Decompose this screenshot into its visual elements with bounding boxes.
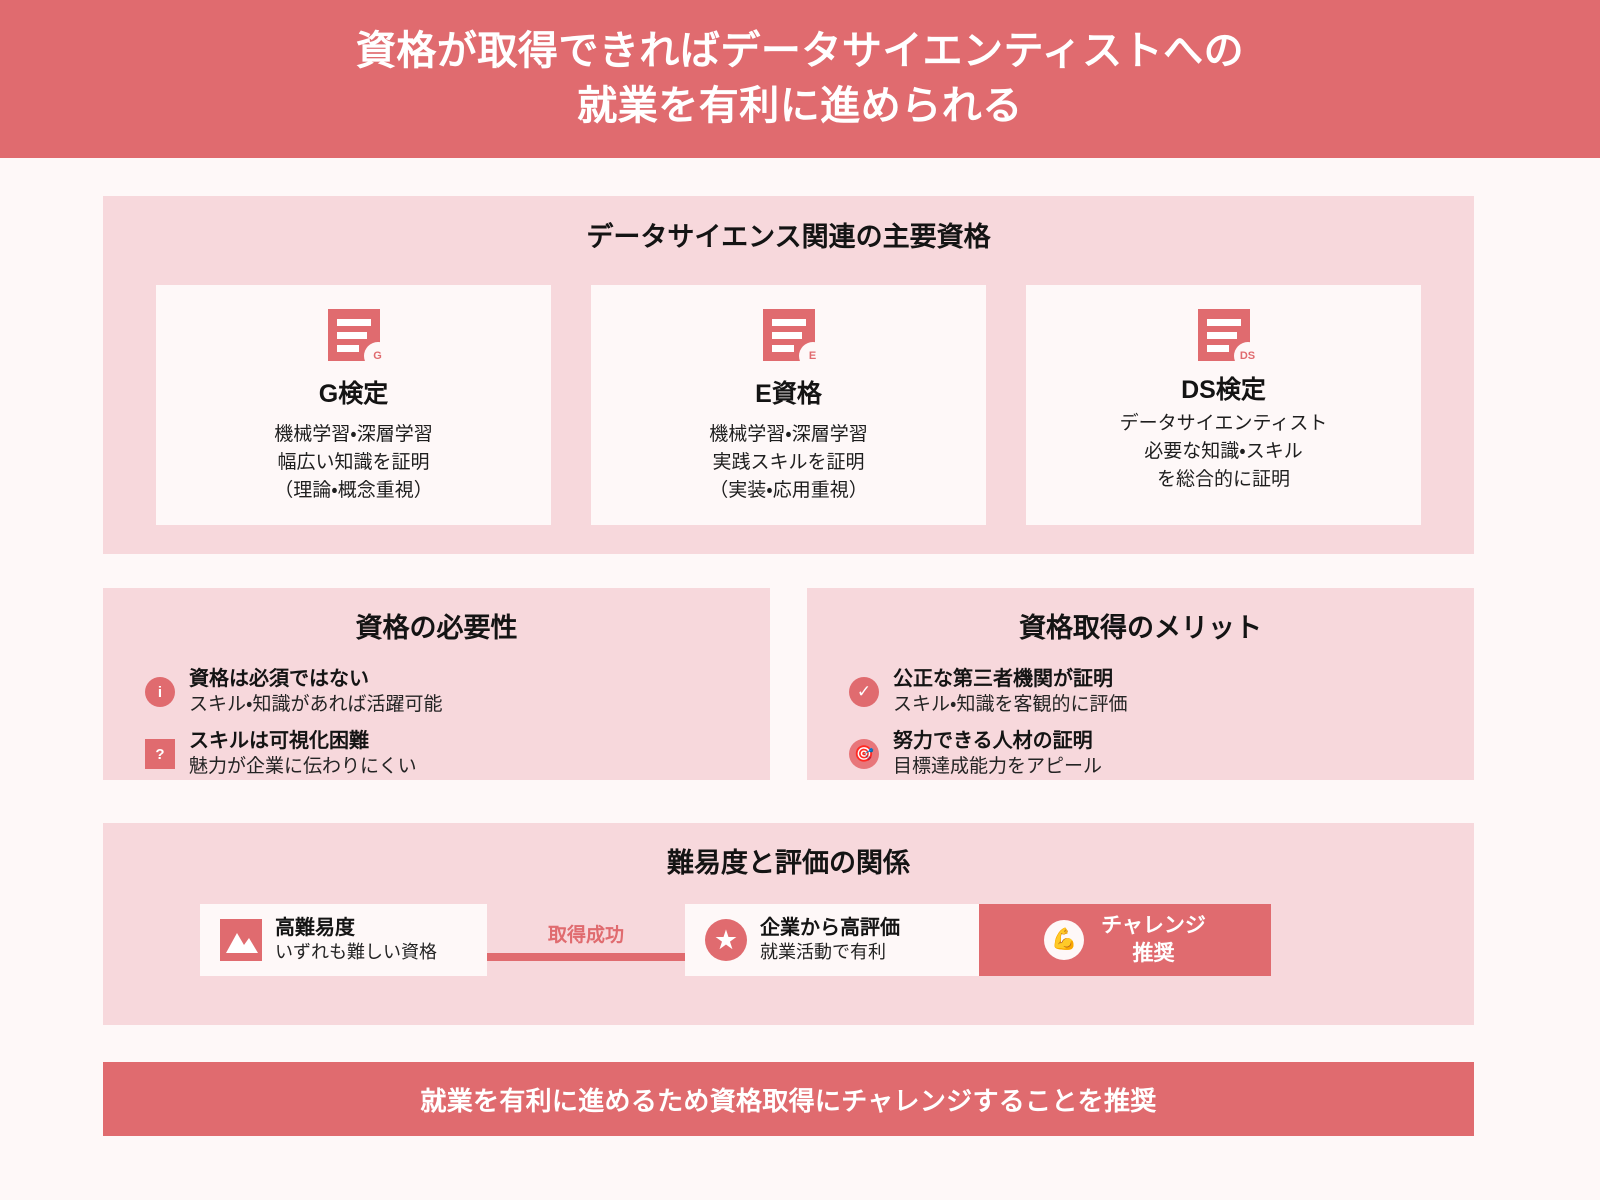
list-item: i 資格は必須ではない スキル・知識があれば活躍可能 — [145, 666, 770, 718]
infographic-page: 資格が取得できればデータサイエンティストへの 就業を有利に進められる データサイ… — [0, 0, 1600, 1200]
difficulty-second-texts: 企業から高評価 就業活動で有利 — [760, 915, 900, 964]
necessity-list: i 資格は必須ではない スキル・知識があれば活躍可能 ? スキルは可視化困難 魅… — [103, 666, 770, 780]
list-item-sub: スキル・知識があれば活躍可能 — [189, 692, 442, 718]
flow-connector-label: 取得成功 — [548, 920, 624, 947]
certifications-panel: データサイエンス関連の主要資格 G G検定 機械学習・深層学習 幅広い知識を証明… — [103, 196, 1474, 554]
list-item-heading: 資格は必須ではない — [189, 666, 442, 692]
list-item-heading: スキルは可視化困難 — [189, 728, 417, 754]
difficulty-first-sub: いずれも難しい資格 — [275, 941, 437, 964]
certification-name: DS検定 — [1181, 370, 1266, 406]
list-item-heading: 努力できる人材の証明 — [893, 728, 1102, 754]
list-item: ✓ 公正な第三者機関が証明 スキル・知識を客観的に評価 — [849, 666, 1474, 718]
difficulty-second-heading: 企業から高評価 — [760, 915, 900, 941]
difficulty-second-box[interactable]: ★ 企業から高評価 就業活動で有利 — [685, 904, 979, 976]
merit-list: ✓ 公正な第三者機関が証明 スキル・知識を客観的に評価 🎯 努力できる人材の証明… — [807, 666, 1474, 780]
merit-section-title: 資格取得のメリット — [807, 606, 1474, 645]
difficulty-second-sub: 就業活動で有利 — [760, 941, 900, 964]
muscle-icon: 💪 — [1044, 920, 1084, 960]
difficulty-first-texts: 高難易度 いずれも難しい資格 — [275, 915, 437, 964]
document-line — [1207, 345, 1229, 352]
document-icon: G — [328, 309, 380, 361]
difficulty-first-box[interactable]: 高難易度 いずれも難しい資格 — [200, 904, 487, 976]
list-item-texts: 公正な第三者機関が証明 スキル・知識を客観的に評価 — [893, 666, 1127, 718]
difficulty-flow-row: 高難易度 いずれも難しい資格 取得成功 ★ 企業から高評価 就業活動で有利 💪 … — [103, 904, 1474, 976]
list-item-sub: 目標達成能力をアピール — [893, 754, 1102, 780]
document-line — [1207, 332, 1237, 339]
list-item-heading: 公正な第三者機関が証明 — [893, 666, 1127, 692]
certification-description: 機械学習・深層学習 実践スキルを証明 （実装・応用重視） — [709, 421, 867, 505]
challenge-cta-text: チャレンジ 推奨 — [1101, 912, 1206, 969]
document-line — [1207, 319, 1241, 326]
list-item: ? スキルは可視化困難 魅力が企業に伝わりにくい — [145, 728, 770, 780]
check-icon: ✓ — [849, 677, 879, 707]
question-icon: ? — [145, 739, 175, 769]
merit-panel: 資格取得のメリット ✓ 公正な第三者機関が証明 スキル・知識を客観的に評価 🎯 … — [807, 588, 1474, 780]
flow-connector-line — [487, 953, 685, 961]
list-item: 🎯 努力できる人材の証明 目標達成能力をアピール — [849, 728, 1474, 780]
certification-description: 機械学習・深層学習 幅広い知識を証明 （理論・概念重視） — [274, 421, 432, 505]
list-item-sub: 魅力が企業に伝わりにくい — [189, 754, 417, 780]
certifications-section-title: データサイエンス関連の主要資格 — [103, 215, 1474, 254]
document-line — [772, 319, 806, 326]
footer-text: 就業を有利に進めるため資格取得にチャレンジすることを推奨 — [420, 1081, 1156, 1118]
list-item-texts: 資格は必須ではない スキル・知識があれば活躍可能 — [189, 666, 442, 718]
document-line — [337, 332, 367, 339]
document-icon: E — [763, 309, 815, 361]
footer-banner: 就業を有利に進めるため資格取得にチャレンジすることを推奨 — [103, 1062, 1474, 1136]
flow-connector: 取得成功 — [487, 904, 685, 976]
document-line — [337, 319, 371, 326]
header-title: 資格が取得できればデータサイエンティストへの 就業を有利に進められる — [356, 24, 1244, 134]
certification-description: データサイエンティスト 必要な知識・スキル を総合的に証明 — [1120, 410, 1328, 494]
certification-name: G検定 — [319, 374, 388, 410]
certification-badge: DS — [1234, 342, 1262, 370]
mountain-icon — [220, 919, 262, 961]
certification-badge: E — [799, 342, 827, 370]
header-banner: 資格が取得できればデータサイエンティストへの 就業を有利に進められる — [0, 0, 1600, 158]
difficulty-section-title: 難易度と評価の関係 — [103, 841, 1474, 880]
list-item-sub: スキル・知識を客観的に評価 — [893, 692, 1127, 718]
list-item-texts: 努力できる人材の証明 目標達成能力をアピール — [893, 728, 1102, 780]
target-icon: 🎯 — [849, 739, 879, 769]
list-item-texts: スキルは可視化困難 魅力が企業に伝わりにくい — [189, 728, 417, 780]
document-line — [772, 345, 794, 352]
document-line — [337, 345, 359, 352]
difficulty-first-heading: 高難易度 — [275, 915, 437, 941]
certification-name: E資格 — [755, 374, 822, 410]
certification-card[interactable]: G G検定 機械学習・深層学習 幅広い知識を証明 （理論・概念重視） — [156, 285, 551, 525]
necessity-section-title: 資格の必要性 — [103, 606, 770, 645]
document-line — [772, 332, 802, 339]
certification-card[interactable]: DS DS検定 データサイエンティスト 必要な知識・スキル を総合的に証明 — [1026, 285, 1421, 525]
certification-card[interactable]: E E資格 機械学習・深層学習 実践スキルを証明 （実装・応用重視） — [591, 285, 986, 525]
star-icon: ★ — [705, 919, 747, 961]
necessity-panel: 資格の必要性 i 資格は必須ではない スキル・知識があれば活躍可能 ? スキルは… — [103, 588, 770, 780]
certification-card-row: G G検定 機械学習・深層学習 幅広い知識を証明 （理論・概念重視） E E資格… — [103, 285, 1474, 525]
certification-badge: G — [364, 342, 392, 370]
document-icon: DS — [1198, 309, 1250, 361]
challenge-cta-box[interactable]: 💪 チャレンジ 推奨 — [979, 904, 1271, 976]
difficulty-panel: 難易度と評価の関係 高難易度 いずれも難しい資格 取得成功 ★ — [103, 823, 1474, 1025]
info-icon: i — [145, 677, 175, 707]
